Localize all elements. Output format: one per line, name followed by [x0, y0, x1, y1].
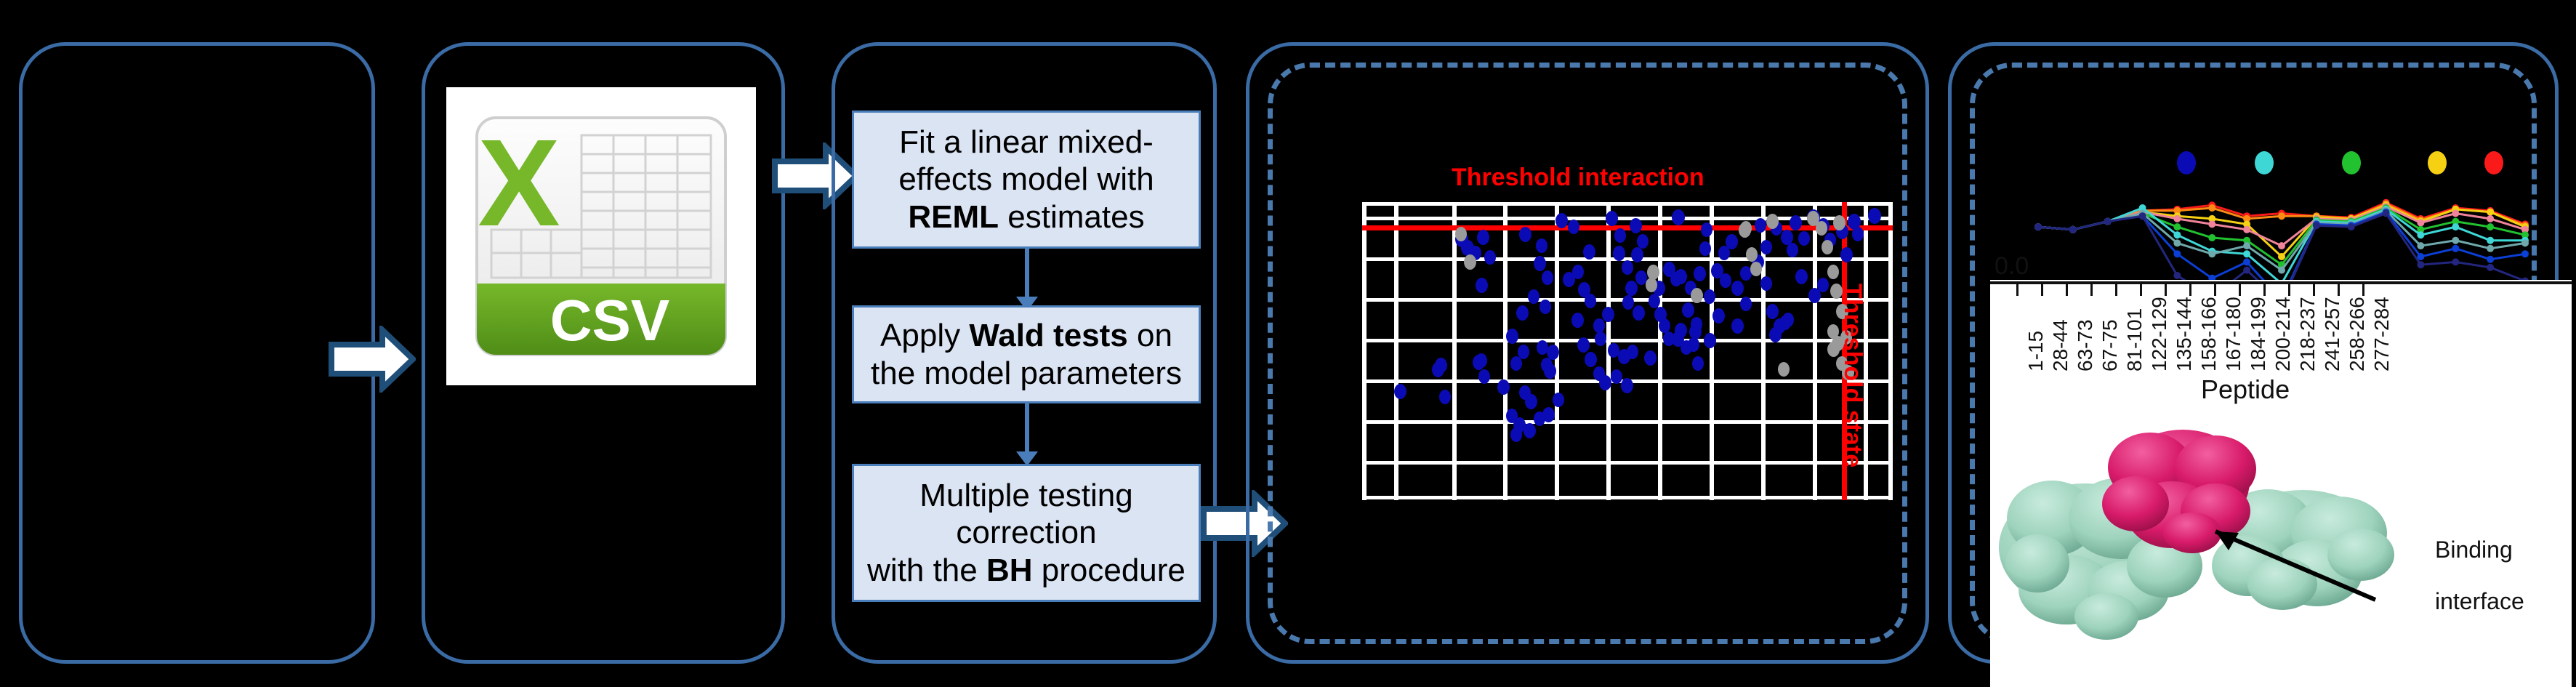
threshold-interaction-label: Threshold interaction	[1452, 164, 1704, 192]
peptide-series-point	[2278, 267, 2285, 274]
peptide-series-point	[2034, 223, 2042, 230]
fit-model-line3-rest: estimates	[999, 199, 1145, 235]
peptide-series-point	[2173, 272, 2181, 279]
binding-interface-line2: interface	[2435, 589, 2524, 615]
reml-emphasis: REML	[908, 199, 999, 235]
grid-v	[1888, 202, 1893, 500]
grid-v	[1452, 202, 1457, 500]
csv-file-icon[interactable]: X CSV	[446, 87, 756, 385]
threshold-state-label: Threshold state	[1838, 284, 1867, 467]
flowchart-canvas: X CSV Fit a linear mixed- effects model …	[0, 0, 2576, 687]
fit-model-step[interactable]: Fit a linear mixed- effects model with R…	[852, 111, 1201, 249]
grid-v	[1658, 202, 1662, 500]
peptide-tick-label: 184-199	[2247, 297, 2270, 371]
peptide-tick-label: 167-180	[2222, 297, 2245, 371]
grid-h	[1362, 496, 1893, 499]
grid-v	[1362, 202, 1367, 500]
grid-h	[1362, 420, 1893, 424]
legend-dot-cyan	[2255, 151, 2274, 174]
legend-dot-yellow	[2428, 151, 2447, 174]
peptide-series-point	[2452, 237, 2459, 244]
bh-emphasis: BH	[986, 553, 1033, 588]
peptide-series-point	[2243, 267, 2250, 274]
peptide-tick-label: 1-15	[2024, 331, 2048, 371]
peptide-series-point	[2417, 231, 2424, 238]
fit-model-line1: Fit a linear mixed-	[898, 124, 1154, 161]
peptide-series-point	[2069, 226, 2077, 233]
bh-line1: Multiple testing	[867, 477, 1186, 514]
fit-model-line2: effects model with	[898, 161, 1154, 198]
wald-line1-post: on	[1128, 318, 1172, 353]
csv-icon-format-label: CSV	[550, 288, 670, 353]
grid-h	[1362, 461, 1893, 465]
wald-line2: the model parameters	[871, 355, 1182, 392]
peptide-tick-label: 218-237	[2296, 297, 2319, 371]
peptide-series-point	[2208, 234, 2215, 241]
peptide-series-point	[2243, 250, 2250, 257]
volcano-plot[interactable]	[1362, 202, 1893, 500]
peptide-series-point	[2487, 237, 2494, 244]
peptide-tick-label: 158-166	[2197, 297, 2221, 371]
wald-tests-step[interactable]: Apply Wald tests on the model parameters	[852, 305, 1201, 403]
peptide-tick-label: 67-75	[2098, 319, 2122, 371]
fit-model-line3: REML estimates	[898, 198, 1154, 236]
peptide-tick-label: 258-266	[2346, 297, 2369, 371]
peptide-tick-label: 200-214	[2271, 297, 2295, 371]
peptide-series-point	[2452, 245, 2459, 252]
peptide-series-point	[2521, 239, 2529, 246]
bh-line2: correction	[867, 514, 1186, 551]
binding-interface-line1: Binding	[2435, 537, 2524, 563]
peptide-series-point	[2243, 226, 2250, 233]
peptide-series-point	[2208, 204, 2215, 212]
peptide-series-point	[2278, 253, 2285, 260]
peptide-series-point	[2313, 222, 2320, 229]
peptide-series-point	[2208, 250, 2215, 257]
wald-line1: Apply Wald tests on	[871, 317, 1182, 354]
legend-dot-green	[2342, 151, 2361, 174]
arrow-into-stage1	[329, 326, 416, 393]
peptide-series-point	[2173, 239, 2181, 246]
peptide-series-point	[2487, 209, 2494, 216]
connector-wald-to-bh	[1016, 403, 1038, 466]
peptide-series-point	[2452, 258, 2459, 265]
csv-icon-letter: X	[478, 114, 560, 252]
bh-line3: with the BH procedure	[867, 552, 1186, 589]
peptide-series-point	[2208, 220, 2215, 228]
peptide-series-point	[2452, 210, 2459, 217]
peptide-series-point	[2173, 215, 2181, 222]
peptide-series-point	[2173, 250, 2181, 257]
bh-line3-pre: with the	[867, 553, 986, 588]
multiple-testing-step[interactable]: Multiple testing correction with the BH …	[852, 464, 1201, 602]
grid-h	[1362, 202, 1893, 206]
bh-line3-post: procedure	[1033, 553, 1186, 588]
threshold-interaction-line	[1362, 225, 1893, 230]
peptide-series-point	[2139, 212, 2146, 220]
peptide-tick-label: 81-101	[2123, 308, 2146, 371]
peptide-series-point	[2243, 242, 2250, 249]
peptide-series-point	[2278, 212, 2285, 220]
peptide-axis-title: Peptide	[2201, 374, 2290, 405]
peptide-series-point	[2487, 223, 2494, 230]
grid-h	[1362, 339, 1893, 342]
peptide-tick-label: 277-284	[2370, 297, 2394, 371]
legend-dot-blue	[2177, 151, 2196, 174]
peptide-tick-label: 28-44	[2049, 319, 2072, 371]
peptide-series-point	[2104, 218, 2112, 225]
wald-line1-pre: Apply	[880, 318, 969, 353]
wald-emphasis: Wald tests	[969, 318, 1127, 353]
peptide-series-point	[2521, 250, 2529, 257]
peptide-series-point	[2417, 220, 2424, 227]
peptide-series-point	[2278, 242, 2285, 249]
peptide-series-point	[2417, 242, 2424, 249]
grid-v	[1394, 202, 1398, 500]
peptide-series-point	[2487, 256, 2494, 263]
peptide-structure-card: 1-1528-4463-7367-7581-101122-129135-1441…	[1990, 280, 2572, 687]
peptide-series-point	[2383, 210, 2390, 217]
peptide-y-tick-value: 0.0	[1995, 252, 2029, 281]
peptide-series-point	[2417, 261, 2424, 268]
legend-dot-red	[2484, 151, 2503, 174]
peptide-tick-labels: 1-1528-4463-7367-7581-101122-129135-1441…	[1990, 280, 2572, 389]
peptide-series-point	[2173, 231, 2181, 238]
peptide-series-point	[2173, 223, 2181, 230]
peptide-tick-label: 135-144	[2173, 297, 2196, 371]
binding-interface-label: Binding interface	[2435, 511, 2524, 641]
peptide-tick-label: 122-129	[2148, 297, 2171, 371]
protein-structure-image	[1997, 409, 2448, 671]
peptide-series-point	[2243, 258, 2250, 265]
peptide-tick-label: 241-257	[2321, 297, 2344, 371]
peptide-series-point	[2487, 264, 2494, 271]
input-panel[interactable]	[19, 42, 375, 664]
peptide-series-point	[2487, 215, 2494, 222]
peptide-series-point	[2348, 223, 2355, 230]
peptide-series-point	[2487, 245, 2494, 252]
grid-v	[1503, 202, 1508, 500]
connector-fit-to-wald	[1016, 249, 1038, 311]
peptide-series-point	[2452, 223, 2459, 230]
grid-v	[1813, 202, 1817, 500]
peptide-tick-label: 63-73	[2074, 319, 2097, 371]
